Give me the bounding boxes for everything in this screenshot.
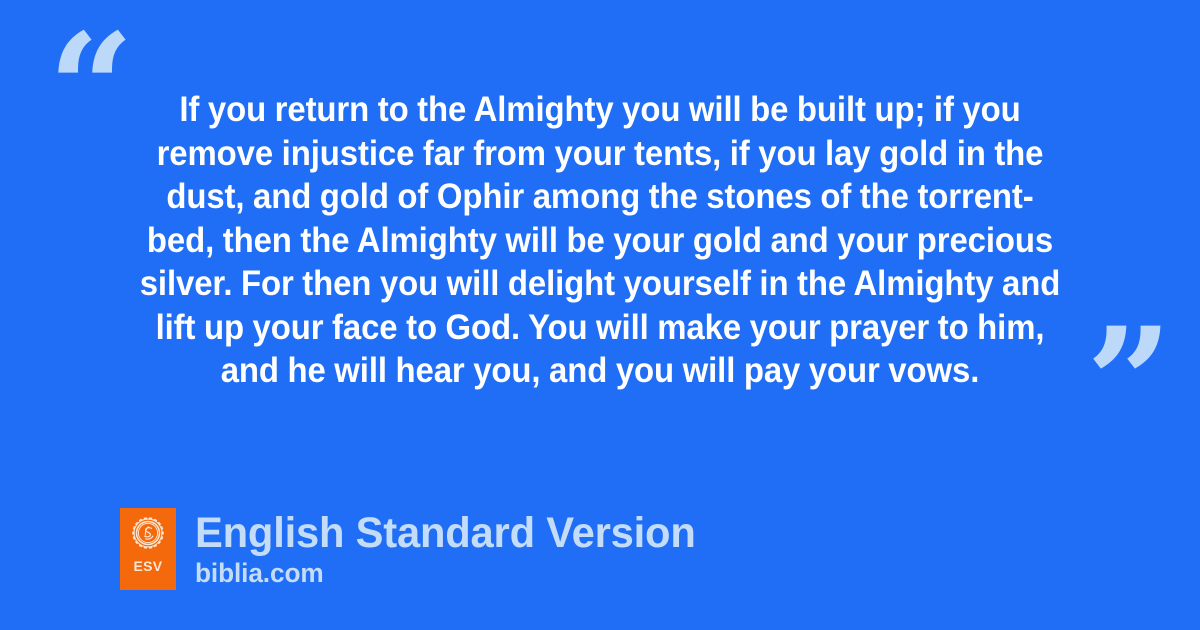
attribution: ESV English Standard Version biblia.com — [120, 508, 711, 590]
site-url: biblia.com — [195, 558, 696, 588]
attribution-text: English Standard Version biblia.com — [195, 508, 711, 588]
esv-logo-label: ESV — [134, 559, 163, 573]
esv-logo: ESV — [120, 508, 176, 590]
translation-name: English Standard Version — [195, 510, 696, 556]
verse-text: If you return to the Almighty you will b… — [138, 88, 1063, 393]
verse-quote-card: “ If you return to the Almighty you will… — [0, 0, 1200, 630]
verse-block: If you return to the Almighty you will b… — [108, 88, 1092, 393]
close-quote-icon: ” — [1086, 308, 1170, 458]
esv-seal-icon — [131, 516, 165, 550]
